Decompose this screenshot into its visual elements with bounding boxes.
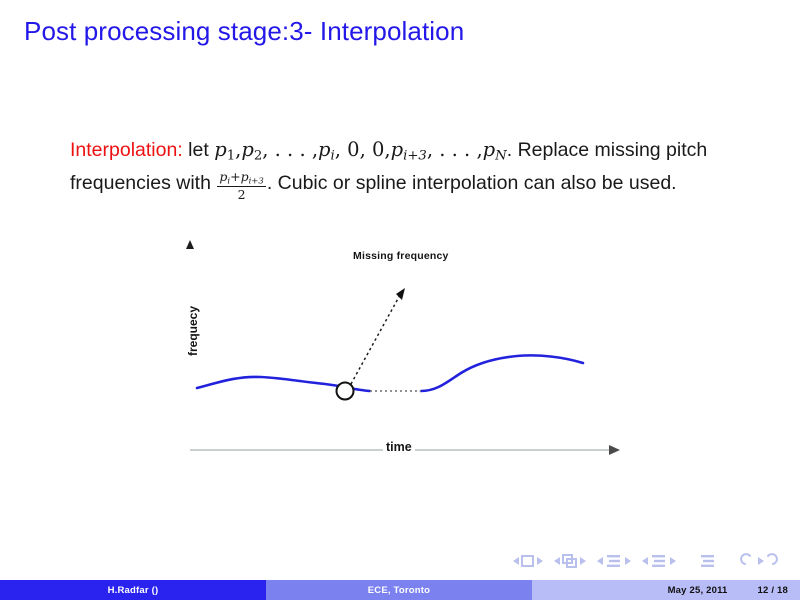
figure-canvas [165, 232, 635, 467]
pitch-sequence: p1,p2, . . . ,pi, 0, 0,pi+3, . . . ,pN [214, 138, 507, 161]
beamer-navigation-bar[interactable] [505, 552, 785, 570]
slide-title: Post processing stage:3- Interpolation [24, 16, 464, 47]
seq-p2: p [241, 138, 253, 161]
frac-pi3: p [241, 169, 249, 184]
seq-pN: p [483, 138, 495, 161]
nav-next-subsection-icon[interactable] [625, 557, 631, 565]
nav-back-icon[interactable] [741, 554, 750, 564]
body-text-cubic: . Cubic or spline interpolation can also… [267, 172, 677, 194]
x-axis-arrow-icon [609, 445, 620, 455]
nav-prev-subsection-icon[interactable] [597, 557, 603, 565]
fraction-denominator: 2 [217, 187, 265, 201]
pitch-curve-right [421, 355, 583, 391]
nav-next-slide-icon[interactable] [537, 557, 543, 565]
nav-subsection-icon[interactable] [607, 555, 620, 567]
footer-page-number: 12 / 18 [758, 585, 788, 596]
slide-footer: H.Radfar () ECE, Toronto May 25, 2011 12… [0, 580, 800, 600]
nav-prev-section-icon[interactable] [642, 557, 648, 565]
missing-frequency-pointer [351, 295, 400, 384]
navigation-symbols[interactable] [505, 552, 785, 570]
seq-pi3-subscript: i+3 [403, 149, 427, 164]
presentation-slide: Post processing stage:3- Interpolation I… [0, 0, 800, 600]
figure-label-missing-frequency: Missing frequency [353, 250, 449, 262]
interpolation-figure: Missing frequency frequecy time [165, 232, 635, 467]
figure-label-y-axis: frequecy [186, 291, 200, 371]
nav-prev-frame-icon[interactable] [554, 557, 560, 565]
seq-p1: p [214, 138, 226, 161]
interpolation-fraction: pi+pi+3 2 [217, 170, 265, 201]
fraction-numerator: pi+pi+3 [217, 170, 265, 187]
footer-author: H.Radfar () [0, 580, 266, 600]
seq-pN-subscript: N [495, 149, 507, 164]
body-text-let: let [188, 139, 209, 161]
nav-next-frame-icon[interactable] [580, 557, 586, 565]
footer-meta: May 25, 2011 12 / 18 [532, 580, 800, 600]
seq-pi3: p [391, 138, 403, 161]
footer-institute: ECE, Toronto [266, 580, 532, 600]
figure-label-x-axis: time [383, 440, 415, 454]
interpolation-keyword: Interpolation: [70, 139, 183, 161]
nav-slide-icon[interactable] [522, 556, 533, 566]
nav-prev-slide-icon[interactable] [513, 557, 519, 565]
pointer-arrowhead-icon [396, 288, 405, 300]
nav-section-icon[interactable] [652, 555, 665, 567]
seq-zeros: , 0, 0, [335, 138, 391, 161]
missing-point-marker-icon [337, 383, 354, 400]
y-axis-arrow-icon [186, 240, 194, 249]
seq-pi: p [318, 138, 330, 161]
seq-p1-subscript: 1 [227, 149, 235, 164]
frac-plus: + [230, 169, 240, 184]
seq-p2-subscript: 2 [254, 149, 262, 164]
seq-sep-2: , . . . , [262, 138, 318, 161]
nav-next-section-icon[interactable] [670, 557, 676, 565]
nav-document-icon[interactable] [701, 555, 714, 567]
seq-sep-3: , . . . , [427, 138, 483, 161]
nav-goto-icon[interactable] [758, 557, 764, 565]
nav-forward-icon[interactable] [768, 554, 777, 564]
frac-pi3-subscript: i+3 [249, 177, 264, 187]
footer-date: May 25, 2011 [668, 585, 728, 596]
slide-body-text: Interpolation: let p1,p2, . . . ,pi, 0, … [70, 136, 760, 202]
